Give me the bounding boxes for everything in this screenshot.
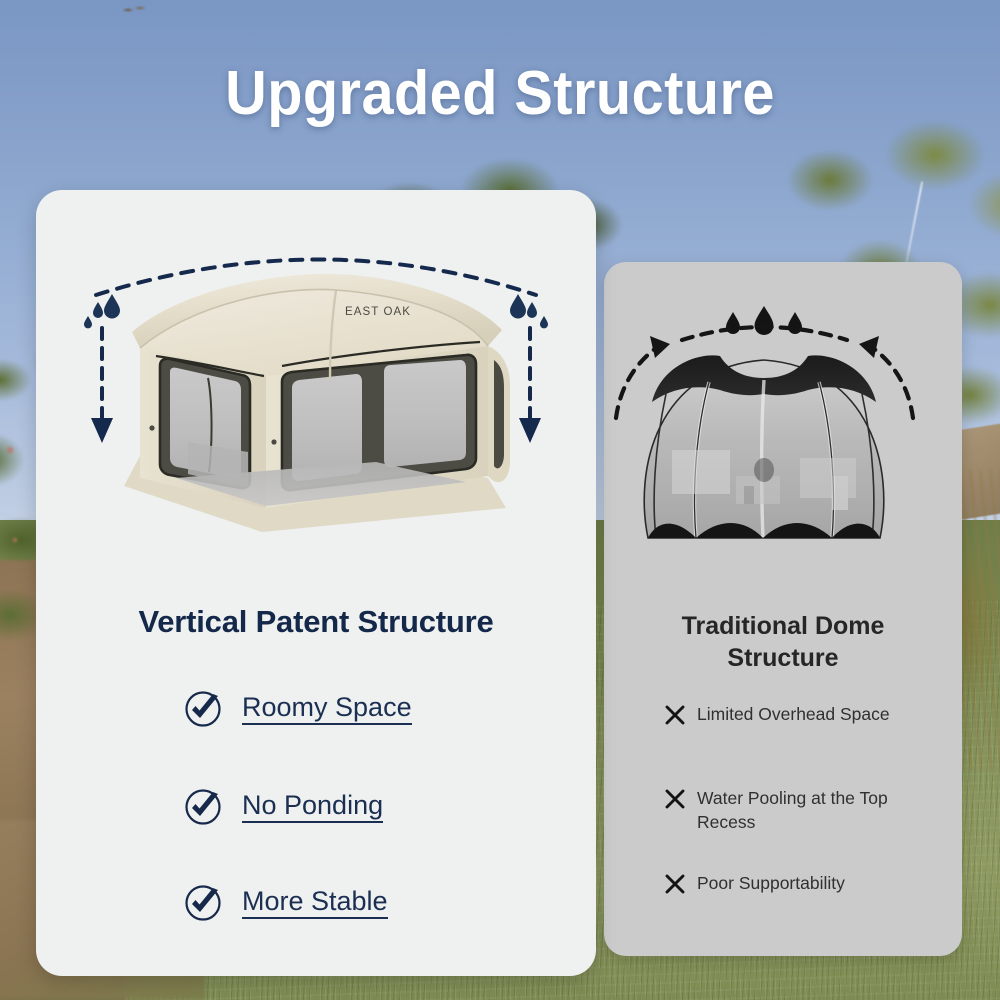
feature-item-roomy-space: Roomy Space bbox=[182, 688, 412, 730]
brand-label: EAST OAK bbox=[345, 306, 411, 318]
infographic-stage: Upgraded Structure bbox=[0, 0, 1000, 1000]
page-title: Upgraded Structure bbox=[35, 58, 965, 129]
pooling-arrow-right bbox=[859, 336, 913, 418]
drawback-label: Limited Overhead Space bbox=[697, 702, 890, 726]
water-drop-2 bbox=[755, 306, 774, 335]
feature-label: More Stable bbox=[242, 887, 388, 919]
feature-label: No Ponding bbox=[242, 791, 383, 823]
x-mark-icon bbox=[664, 703, 686, 727]
drawback-item-water-pooling: Water Pooling at the Top Recess bbox=[664, 786, 932, 834]
canopy-tent-body: EAST OAK bbox=[124, 274, 510, 532]
check-circle-icon bbox=[182, 786, 224, 828]
x-mark-icon bbox=[664, 787, 686, 811]
feature-item-no-ponding: No Ponding bbox=[182, 786, 383, 828]
right-card-heading-line1: Traditional Dome bbox=[616, 610, 950, 642]
dome-tent-body bbox=[644, 355, 884, 538]
water-drop-right bbox=[510, 294, 548, 328]
check-circle-icon bbox=[182, 882, 224, 924]
feature-label: Roomy Space bbox=[242, 693, 412, 725]
bird-icon bbox=[122, 2, 148, 18]
drawback-item-poor-supportability: Poor Supportability bbox=[664, 871, 942, 896]
water-drop-left bbox=[84, 294, 120, 328]
drawback-item-limited-overhead-space: Limited Overhead Space bbox=[664, 702, 942, 727]
pooling-arrow-left bbox=[616, 336, 670, 418]
drawback-label: Poor Supportability bbox=[697, 871, 845, 895]
vertical-patent-illustration: EAST OAK bbox=[36, 190, 596, 580]
feature-item-more-stable: More Stable bbox=[182, 882, 388, 924]
right-card-heading: Traditional Dome Structure bbox=[616, 610, 950, 674]
left-card-heading: Vertical Patent Structure bbox=[36, 604, 596, 640]
right-card-heading-line2: Structure bbox=[616, 642, 950, 674]
water-runoff-arrow-right bbox=[519, 328, 541, 443]
drawback-label: Water Pooling at the Top Recess bbox=[697, 786, 932, 834]
water-runoff-arrow-left bbox=[91, 328, 113, 443]
check-circle-icon bbox=[182, 688, 224, 730]
traditional-dome-illustration bbox=[604, 290, 962, 550]
x-mark-icon bbox=[664, 872, 686, 896]
